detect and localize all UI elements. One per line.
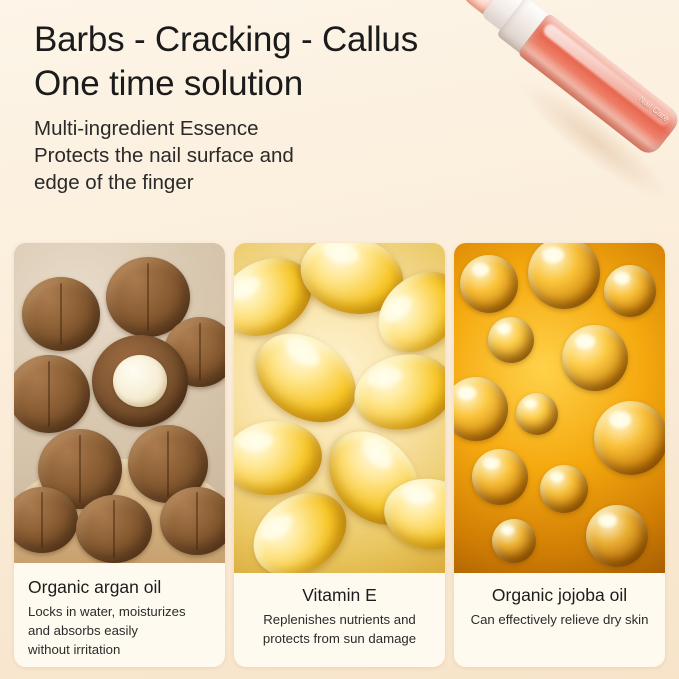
card-text-jojoba-oil: Organic jojoba oil Can effectively relie… — [454, 573, 665, 667]
nuts-photo-background — [14, 243, 225, 563]
product-poster: Barbs - Cracking - Callus One time solut… — [0, 0, 679, 679]
card-description: Replenishes nutrients and protects from … — [244, 610, 435, 648]
card-title: Organic jojoba oil — [464, 583, 655, 607]
card-text-argan-oil: Organic argan oil Locks in water, moistu… — [14, 563, 225, 667]
card-description-line: protects from sun damage — [244, 629, 435, 648]
oil-bubble — [516, 393, 558, 435]
headline-block: Barbs - Cracking - Callus One time solut… — [34, 18, 554, 196]
oil-bubble — [604, 265, 656, 317]
opened-nut-with-kernel — [92, 335, 188, 427]
card-description-line: Can effectively relieve dry skin — [464, 610, 655, 629]
card-description: Can effectively relieve dry skin — [464, 610, 655, 629]
ingredient-card-vitamin-e: Vitamin E Replenishes nutrients and prot… — [234, 243, 445, 667]
vitamin-e-softgels-photo — [234, 243, 445, 573]
subcopy-line-3: edge of the finger — [34, 169, 554, 196]
nut-shell — [14, 355, 90, 433]
jojoba-oil-bubbles-photo — [454, 243, 665, 573]
pen-brush-tip — [454, 0, 507, 17]
ingredient-card-jojoba-oil: Organic jojoba oil Can effectively relie… — [454, 243, 665, 667]
card-title: Organic argan oil — [28, 575, 215, 599]
oil-bubble — [562, 325, 628, 391]
card-title: Vitamin E — [244, 583, 435, 607]
oil-bubble — [454, 377, 508, 441]
oil-bubble — [528, 243, 600, 309]
oil-photo-background — [454, 243, 665, 573]
softgel-photo-background — [234, 243, 445, 573]
card-description-line: Replenishes nutrients and — [244, 610, 435, 629]
oil-bubble — [586, 505, 648, 567]
ingredient-card-argan-oil: Organic argan oil Locks in water, moistu… — [14, 243, 225, 667]
softgel-capsule — [347, 345, 445, 438]
oil-bubble — [492, 519, 536, 563]
headline-line-2: One time solution — [34, 62, 554, 106]
oil-bubble — [488, 317, 534, 363]
oil-bubble — [540, 465, 588, 513]
nut-shell — [160, 487, 225, 555]
nut-kernel — [113, 355, 167, 407]
card-text-vitamin-e: Vitamin E Replenishes nutrients and prot… — [234, 573, 445, 667]
subcopy-line-2: Protects the nail surface and — [34, 142, 554, 169]
nut-shell — [76, 495, 152, 563]
card-description-line: without irritation — [28, 640, 215, 659]
nut-shell — [22, 277, 100, 351]
macadamia-nuts-photo — [14, 243, 225, 563]
pen-label-text: Nail Care — [536, 30, 671, 148]
ingredient-card-row: Organic argan oil Locks in water, moistu… — [14, 243, 665, 667]
subcopy-block: Multi-ingredient Essence Protects the na… — [34, 115, 554, 196]
oil-bubble — [594, 401, 665, 475]
oil-bubble — [460, 255, 518, 313]
headline-line-1: Barbs - Cracking - Callus — [34, 18, 554, 62]
card-description: Locks in water, moisturizes and absorbs … — [28, 602, 215, 659]
softgel-capsule — [234, 416, 326, 500]
oil-bubble — [472, 449, 528, 505]
subcopy-line-1: Multi-ingredient Essence — [34, 115, 554, 142]
card-description-line: Locks in water, moisturizes — [28, 602, 215, 621]
card-description-line: and absorbs easily — [28, 621, 215, 640]
